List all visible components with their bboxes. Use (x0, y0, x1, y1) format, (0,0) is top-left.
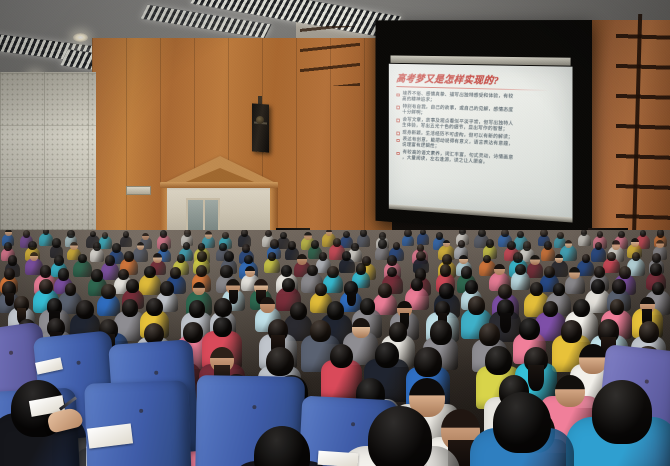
audience-member-head (652, 253, 661, 263)
speaker-cone-icon (256, 116, 264, 124)
audience-member-head (205, 231, 212, 239)
audience-member-head (632, 252, 640, 261)
audience-member-head (378, 283, 392, 298)
audience-member-head (183, 322, 202, 343)
audience-member-head (213, 317, 232, 337)
audience-member-head (393, 242, 400, 250)
audience-member-hair (528, 365, 543, 391)
audience-member-head (290, 302, 307, 321)
audience-member-head (160, 281, 174, 296)
audience-member-head (65, 283, 77, 296)
wood-slat-detail-left (300, 26, 360, 86)
audience-member-head (519, 318, 540, 340)
audience-member-head (160, 243, 168, 251)
audience-member-head (222, 232, 228, 239)
audience-member-head (360, 230, 367, 237)
lecture-hall-photo: 高考梦又是怎样实现的? 境界不俗、感情真挚、描写出独特感受和体验，有较 高的精神… (0, 0, 670, 466)
audience-member-head (619, 266, 631, 279)
audience-member-head (93, 242, 101, 251)
audience-member-head (591, 279, 605, 294)
audience-member-head (307, 265, 318, 276)
audience-member-head (430, 320, 452, 344)
audience-member-head (54, 255, 64, 266)
audience-member-head (442, 254, 452, 265)
audience-member-head (268, 252, 276, 261)
audience-member-head (219, 243, 226, 251)
audience-member-head (416, 251, 426, 261)
foreground-attendee-head (592, 380, 652, 444)
audience-member-head (8, 255, 18, 266)
audience-member-head (39, 279, 53, 294)
audience-member-head (67, 230, 74, 238)
audience-member-head (557, 232, 564, 239)
audience-member-head (461, 266, 473, 279)
audience-member-head (315, 283, 327, 296)
audience-member-head (657, 230, 665, 238)
audience-member-head (101, 284, 115, 300)
audience-member-head (242, 244, 250, 253)
audience-member-head (494, 264, 505, 275)
audience-member-head (436, 232, 443, 240)
audience-member-head (244, 255, 253, 264)
audience-member-head (265, 230, 272, 237)
audience-member-head (266, 347, 293, 376)
audience-member-head (582, 254, 590, 263)
audience-member-head (326, 230, 333, 236)
audience-member-head (610, 299, 624, 314)
audience-member-head (76, 300, 94, 319)
audience-member-head (507, 241, 516, 251)
audience-member-head (650, 263, 661, 275)
audience-member-head (360, 298, 375, 314)
audience-member-head (280, 232, 287, 239)
audience-member-hair (500, 313, 511, 333)
audience-member-head (146, 298, 163, 317)
audience-member-head (105, 255, 114, 265)
audience-member-head (78, 254, 86, 263)
note-paper (318, 451, 359, 466)
audience-member-head (565, 240, 572, 248)
audience-member-head (23, 230, 30, 238)
audience-member-head (4, 268, 15, 280)
bullet-marker-icon (396, 139, 399, 142)
audience-member-head (581, 230, 587, 236)
audience-member-head (459, 255, 468, 264)
audience-member-head (478, 230, 486, 237)
audience-area (0, 230, 670, 466)
audience-member-head (91, 269, 103, 282)
audience-member-head (639, 321, 659, 343)
audience-member-head (304, 232, 312, 240)
bullet-marker-icon (396, 152, 399, 155)
bullet-marker-icon (396, 106, 399, 109)
audience-member-head (282, 278, 295, 292)
audience-member-head (544, 266, 555, 278)
audience-member-head (607, 252, 615, 261)
audience-member-head (327, 301, 345, 320)
audience-member-head (184, 230, 191, 237)
foreground-attendee-head (493, 392, 551, 453)
audience-member-head (112, 243, 121, 252)
audience-member-head (310, 320, 331, 342)
audience-member-head (245, 266, 255, 277)
audience-member-head (543, 301, 558, 317)
audience-member-head (378, 239, 387, 249)
audience-member-head (118, 269, 129, 281)
pa-speaker-icon (252, 103, 269, 152)
audience-member-head (555, 375, 585, 407)
audience-member-head (170, 267, 181, 279)
audience-member-head (612, 279, 625, 293)
audience-member-head (330, 344, 353, 369)
audience-member-head (102, 232, 109, 239)
audience-member-head (468, 296, 485, 314)
audience-member-head (153, 253, 162, 263)
audience-member-head (142, 233, 149, 240)
audience-member-head (214, 298, 232, 317)
audience-member-head (124, 251, 134, 262)
audience-member-head (540, 230, 548, 237)
audience-member-head (90, 231, 96, 238)
doorway-lintel (160, 182, 278, 188)
audience-member-head (144, 266, 156, 278)
audience-member-head (597, 231, 603, 238)
audience-member-head (389, 322, 407, 342)
audience-member-head (122, 299, 139, 317)
audience-member-head (387, 255, 397, 266)
audience-member-head (343, 231, 350, 239)
auditorium-seat (84, 380, 192, 466)
wall-control-plate (126, 186, 151, 195)
bullet-marker-icon (396, 119, 399, 122)
audience-member-head (281, 265, 292, 277)
audience-member-head (198, 243, 205, 251)
ceiling-downlight (73, 33, 88, 42)
audience-member-head (4, 242, 13, 251)
audience-member-head (515, 264, 526, 276)
audience-member-head (356, 263, 367, 274)
audience-member-head (123, 231, 129, 238)
audience-member-head (311, 240, 319, 249)
audience-member-head (260, 297, 275, 313)
audience-member-head (631, 238, 639, 247)
projection-screen-surface: 高考梦又是怎样实现的? 境界不俗、感情真挚、描写出独特感受和体验，有较 高的精神… (389, 64, 573, 218)
audience-member-head (193, 282, 205, 295)
projection-screen-frame: 高考梦又是怎样实现的? 境界不俗、感情真挚、描写出独特感受和体验，有较 高的精神… (375, 20, 592, 238)
audience-member-head (177, 254, 186, 263)
audience-member-head (612, 240, 621, 250)
audience-member-head (479, 323, 501, 347)
audience-member-head (375, 342, 399, 368)
bullet-marker-icon (396, 93, 399, 96)
audience-member-head (561, 320, 582, 342)
audience-member-head (160, 230, 167, 237)
audience-member-head (656, 240, 664, 248)
audience-member-head (5, 230, 12, 236)
audience-member-head (189, 300, 205, 318)
audience-member-head (414, 347, 441, 376)
audience-member-head (439, 283, 453, 299)
audience-member-head (40, 265, 52, 278)
audience-member-head (52, 238, 61, 247)
bullet-marker-icon (396, 132, 399, 135)
audience-member-head (58, 268, 70, 281)
audience-member-head (404, 230, 412, 237)
audience-member-head (652, 282, 664, 295)
audience-member-head (352, 318, 370, 338)
audience-member-head (270, 239, 279, 249)
audience-member-hair (5, 293, 14, 307)
audience-member-head (523, 241, 532, 250)
audience-member-head (640, 230, 646, 237)
audience-member-head (327, 266, 339, 279)
audience-member-head (595, 242, 602, 250)
audience-member-head (297, 254, 307, 265)
audience-member-head (573, 299, 590, 318)
audience-member-head (618, 231, 625, 238)
audience-member-head (220, 265, 232, 278)
audience-member-head (411, 278, 423, 291)
audience-member-head (137, 242, 145, 250)
audience-member-head (440, 264, 452, 277)
audience-member-head (465, 280, 478, 295)
audience-member-head (594, 266, 605, 278)
foreground-attendee-head (368, 406, 432, 466)
audience-member-head (498, 284, 512, 299)
audience-member-head (126, 279, 139, 293)
audience-member-head (553, 283, 565, 296)
audience-member-head (224, 251, 234, 262)
audience-member-hair (347, 292, 356, 306)
audience-member-head (485, 346, 512, 375)
audience-member-head (486, 239, 495, 248)
audience-member-head (197, 251, 206, 261)
audience-member-head (241, 230, 248, 237)
audience-member-head (319, 252, 327, 261)
audience-member-head (351, 243, 358, 251)
audience-member-head (28, 241, 37, 251)
audience-member-head (501, 230, 509, 237)
audience-member-head (530, 255, 540, 265)
presentation-slide: 高考梦又是怎样实现的? 境界不俗、感情真挚、描写出独特感受和体验，有较 高的精神… (389, 64, 573, 218)
audience-member-head (288, 241, 296, 249)
audience-member-head (513, 252, 523, 263)
